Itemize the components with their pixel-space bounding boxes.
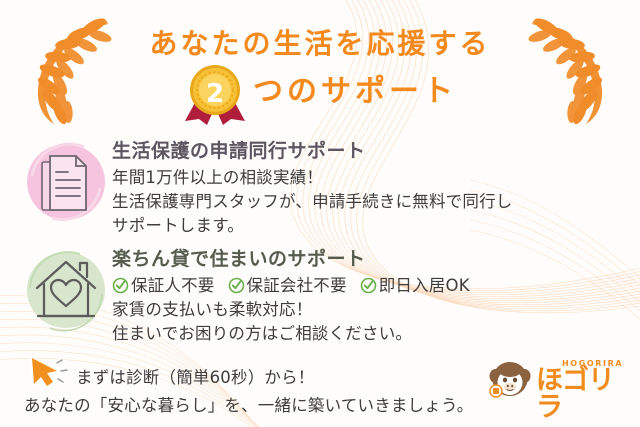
banner-header: あなたの生活を応援する 2 つのサポート [0, 0, 640, 132]
check-item-guarantor: 保証人不要 [112, 274, 215, 298]
logo-wordmark: HOGORIRA ほゴリラ [536, 358, 632, 402]
medal-number: 2 [206, 79, 224, 109]
support-welfare-title: 生活保護の申請同行サポート [112, 140, 512, 163]
check-circle-icon [360, 277, 377, 294]
medal-ribbon-icon: 2 [183, 63, 249, 125]
check-item-guarantee-company: 保証会社不要 [228, 274, 347, 298]
banner-footer: まずは診断（簡単60秒）から！ あなたの「安心な暮らし」を、一緒に築いていきまし… [0, 352, 640, 427]
house-heart-icon [22, 244, 110, 336]
support-welfare-body: 生活保護の申請同行サポート 年間1万件以上の相談実績！ 生活保護専門スタッフが、… [112, 136, 512, 238]
check-label-guarantor: 保証人不要 [131, 274, 215, 298]
promo-banner: あなたの生活を応援する 2 つのサポート [0, 0, 640, 427]
support-housing-body: 楽ちん貸で住まいのサポート 保証人不要 [112, 244, 483, 346]
support-housing-check-line: 保証人不要 保証会社不要 [112, 274, 483, 298]
documents-icon [22, 136, 110, 228]
logo-japanese-text: ほゴリラ [536, 367, 632, 421]
footer-line-1: まずは診断（簡単60秒）から！ [76, 364, 315, 388]
headline-text: あなたの生活を応援する [0, 22, 640, 62]
support-welfare-line-2: 生活保護専門スタッフが、申請手続きに無料で同行し [112, 190, 512, 214]
support-item-welfare: 生活保護の申請同行サポート 年間1万件以上の相談実績！ 生活保護専門スタッフが、… [22, 136, 512, 238]
check-item-same-day: 即日入居OK [360, 274, 470, 298]
support-welfare-line-3: サポートします。 [112, 214, 512, 238]
check-circle-icon [228, 277, 245, 294]
check-label-guarantee-company: 保証会社不要 [247, 274, 347, 298]
subline-row: 2 つのサポート [0, 63, 640, 125]
support-item-housing: 楽ちん貸で住まいのサポート 保証人不要 [22, 244, 483, 346]
check-label-same-day: 即日入居OK [379, 274, 470, 298]
support-welfare-line-1: 年間1万件以上の相談実績！ [112, 166, 512, 190]
support-housing-line-1: 家賃の支払いも柔軟対応！ [112, 298, 483, 322]
gorilla-mascot-icon [487, 358, 533, 402]
support-housing-line-2: 住まいでお困りの方はご相談ください。 [112, 322, 483, 346]
subline-text: つのサポート [253, 77, 457, 111]
support-housing-title: 楽ちん貸で住まいのサポート [112, 248, 483, 271]
click-cursor-icon [24, 354, 72, 395]
footer-line-2: あなたの「安心な暮らし」を、一緒に築いていきましょう。 [24, 392, 473, 416]
brand-logo[interactable]: HOGORIRA ほゴリラ [487, 358, 632, 402]
check-circle-icon [112, 277, 129, 294]
